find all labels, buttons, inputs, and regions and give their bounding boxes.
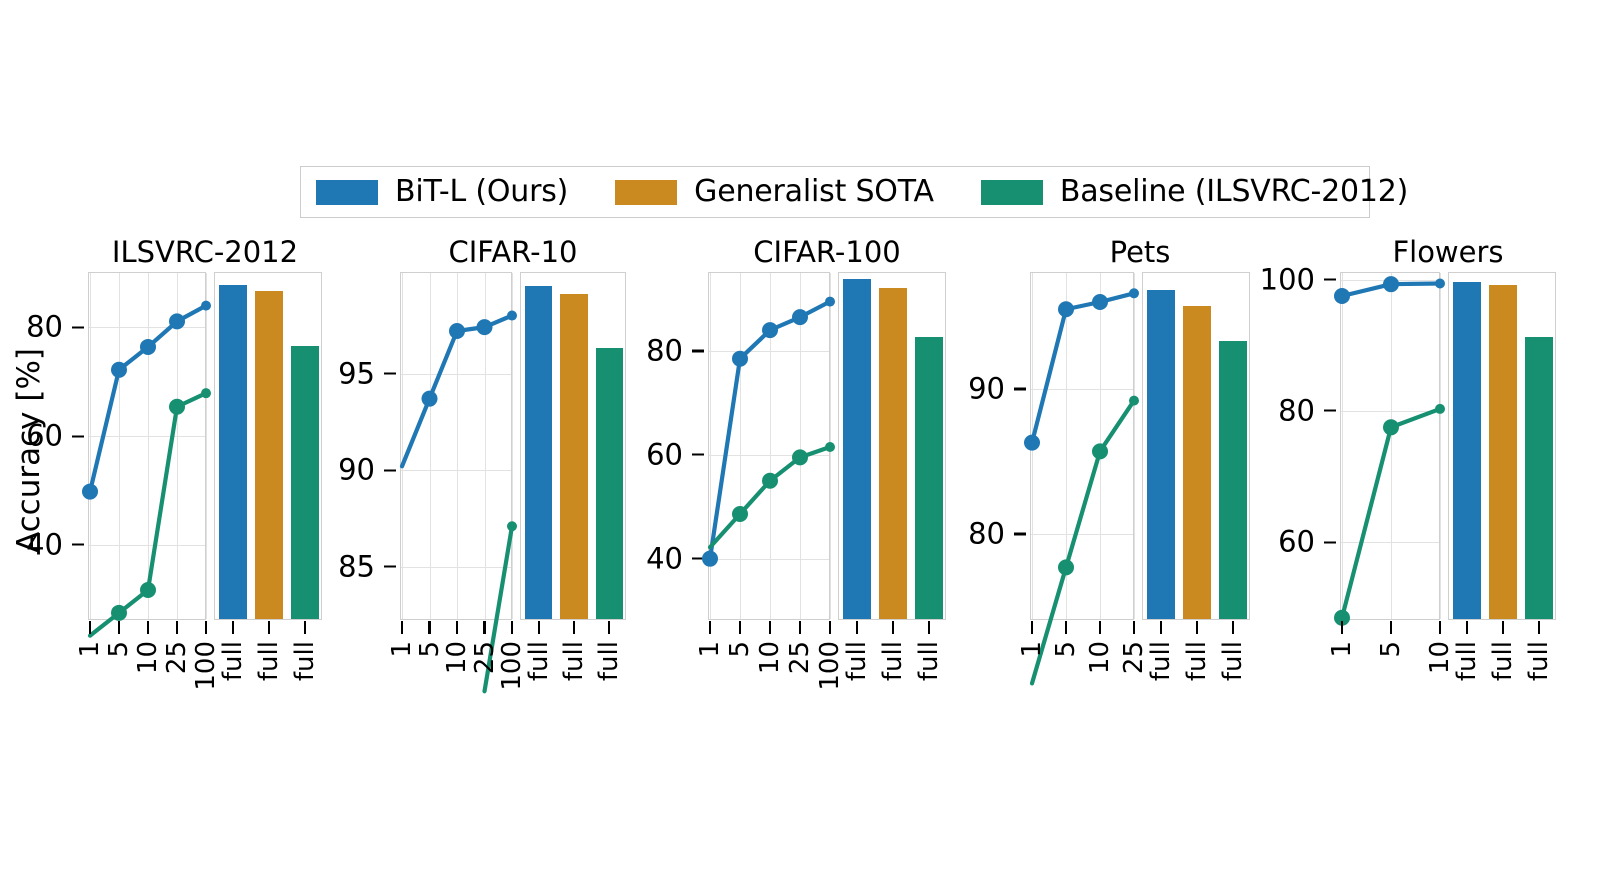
x-tick-label: full bbox=[596, 641, 622, 681]
x-tick-label: 1 bbox=[1329, 641, 1355, 658]
x-tick-label: full bbox=[844, 641, 870, 681]
series-svg bbox=[709, 273, 831, 621]
y-tick-mark bbox=[1324, 410, 1336, 412]
x-tick: full bbox=[561, 621, 587, 681]
axes-row: 60801001510fullfullfull bbox=[1340, 272, 1556, 620]
data-point-marker bbox=[507, 521, 517, 531]
legend-label-bit-l: BiT-L (Ours) bbox=[395, 177, 568, 207]
x-tick-mark bbox=[1538, 621, 1540, 634]
y-tick-label: 95 bbox=[338, 359, 375, 388]
x-tick: 25 bbox=[787, 621, 813, 674]
x-tick: 5 bbox=[106, 621, 132, 658]
x-tick-group-bars: fullfullfull bbox=[521, 621, 627, 701]
line-axes: 406080151025100 bbox=[708, 272, 830, 620]
x-tick: full bbox=[880, 621, 906, 681]
chart-panel-cifar-10: CIFAR-10859095151025100fullfullfull bbox=[400, 236, 626, 666]
bar-axes: fullfullfull bbox=[1142, 272, 1250, 620]
x-tick-label: 5 bbox=[106, 641, 132, 658]
data-point-marker bbox=[111, 605, 127, 621]
data-point-marker bbox=[422, 391, 438, 407]
y-tick-label: 100 bbox=[1260, 265, 1315, 294]
x-tick-mark bbox=[401, 621, 403, 634]
y-tick: 95 bbox=[338, 359, 401, 388]
x-tick-mark bbox=[1341, 621, 1343, 634]
bar-axes: fullfullfull bbox=[214, 272, 322, 620]
x-tick-mark bbox=[428, 621, 430, 634]
data-point-marker bbox=[140, 339, 156, 355]
x-tick-label: 5 bbox=[417, 641, 443, 658]
x-tick-mark bbox=[304, 621, 306, 634]
x-tick-mark bbox=[928, 621, 930, 634]
y-tick-mark bbox=[692, 454, 704, 456]
bar-generalist-sota bbox=[879, 288, 907, 619]
legend-entry-generalist-sota: Generalist SOTA bbox=[614, 177, 934, 207]
x-tick-label: 1 bbox=[389, 641, 415, 658]
series-line bbox=[90, 306, 206, 492]
y-tick-mark bbox=[692, 350, 704, 352]
x-tick-label: full bbox=[1148, 641, 1174, 681]
y-tick: 90 bbox=[338, 456, 401, 485]
x-tick-mark bbox=[1133, 621, 1135, 634]
x-tick-label: 1 bbox=[77, 641, 103, 658]
x-tick-mark bbox=[1502, 621, 1504, 634]
panel-title: Pets bbox=[1030, 236, 1250, 268]
x-tick: 5 bbox=[417, 621, 443, 658]
y-tick: 40 bbox=[646, 544, 709, 573]
x-tick: full bbox=[526, 621, 552, 681]
legend-swatch-generalist-sota bbox=[614, 179, 678, 206]
bar-baseline-ilsvrc-2012 bbox=[1219, 341, 1247, 619]
data-point-marker bbox=[169, 399, 185, 415]
x-tick-label: 5 bbox=[727, 641, 753, 658]
x-tick-mark bbox=[147, 621, 149, 634]
x-tick-mark bbox=[89, 621, 91, 634]
line-axes: 8090151025 bbox=[1030, 272, 1134, 620]
y-tick-label: 85 bbox=[338, 552, 375, 581]
data-point-marker bbox=[1129, 288, 1139, 298]
x-tick-label: 25 bbox=[787, 641, 813, 674]
x-tick-group: 151025 bbox=[1031, 621, 1135, 701]
x-tick-mark bbox=[1439, 621, 1441, 634]
x-tick: full bbox=[1454, 621, 1480, 681]
x-tick-label: 10 bbox=[444, 641, 470, 674]
panel-title: CIFAR-100 bbox=[708, 236, 946, 268]
x-tick-mark bbox=[1390, 621, 1392, 634]
axes-row: 406080151025100fullfullfull bbox=[708, 272, 946, 620]
series-svg bbox=[401, 273, 513, 621]
x-tick-label: full bbox=[880, 641, 906, 681]
axes-row: 8090151025fullfullfull bbox=[1030, 272, 1250, 620]
legend-label-baseline: Baseline (ILSVRC-2012) bbox=[1060, 177, 1408, 207]
x-tick-mark bbox=[538, 621, 540, 634]
bar-bit-l-ours bbox=[843, 279, 871, 619]
x-tick-mark bbox=[268, 621, 270, 634]
x-tick-group: 1510 bbox=[1341, 621, 1441, 701]
x-tick: full bbox=[916, 621, 942, 681]
x-tick: 10 bbox=[444, 621, 470, 674]
series-line bbox=[90, 393, 206, 636]
data-point-marker bbox=[732, 506, 748, 522]
chart-legend: BiT-L (Ours) Generalist SOTA Baseline (I… bbox=[300, 166, 1370, 218]
x-tick-mark bbox=[1031, 621, 1033, 634]
series-line bbox=[1342, 409, 1440, 618]
x-tick: 1 bbox=[1019, 621, 1045, 658]
data-point-marker bbox=[1383, 419, 1399, 435]
y-tick-mark bbox=[1014, 533, 1026, 535]
x-tick-mark bbox=[769, 621, 771, 634]
x-tick-group: 151025100 bbox=[89, 621, 207, 701]
y-tick-label: 80 bbox=[646, 336, 683, 365]
y-tick: 60 bbox=[646, 440, 709, 469]
x-tick-mark bbox=[799, 621, 801, 634]
y-tick-label: 40 bbox=[26, 530, 63, 559]
bar-axes: fullfullfull bbox=[1448, 272, 1556, 620]
x-tick-label: full bbox=[1454, 641, 1480, 681]
x-tick: 1 bbox=[77, 621, 103, 658]
y-tick: 90 bbox=[968, 375, 1031, 404]
data-point-marker bbox=[792, 449, 808, 465]
chart-panel-pets: Pets8090151025fullfullfull bbox=[1030, 236, 1250, 666]
bar-axes: fullfullfull bbox=[838, 272, 946, 620]
panel-title: CIFAR-10 bbox=[400, 236, 626, 268]
legend-entry-bit-l: BiT-L (Ours) bbox=[315, 177, 568, 207]
x-tick-label: full bbox=[916, 641, 942, 681]
legend-entry-baseline: Baseline (ILSVRC-2012) bbox=[980, 177, 1408, 207]
y-tick-label: 60 bbox=[646, 440, 683, 469]
series-line bbox=[710, 447, 830, 547]
x-tick: full bbox=[1526, 621, 1552, 681]
x-tick: 5 bbox=[1053, 621, 1079, 658]
x-tick-label: full bbox=[561, 641, 587, 681]
x-tick-mark bbox=[709, 621, 711, 634]
x-tick: 25 bbox=[164, 621, 190, 674]
x-tick: 5 bbox=[727, 621, 753, 658]
y-tick-label: 90 bbox=[968, 375, 1005, 404]
data-point-marker bbox=[1334, 288, 1350, 304]
bar-bit-l-ours bbox=[525, 286, 553, 619]
x-tick-mark bbox=[511, 621, 513, 634]
series-line bbox=[710, 302, 830, 559]
bar-generalist-sota bbox=[560, 294, 588, 619]
y-tick-mark bbox=[1014, 388, 1026, 390]
x-tick: full bbox=[256, 621, 282, 681]
data-point-marker bbox=[732, 351, 748, 367]
x-tick: full bbox=[1490, 621, 1516, 681]
x-tick: 10 bbox=[757, 621, 783, 674]
x-tick-group-bars: fullfullfull bbox=[215, 621, 323, 701]
x-tick: full bbox=[1148, 621, 1174, 681]
y-tick: 80 bbox=[646, 336, 709, 365]
x-tick: 10 bbox=[135, 621, 161, 674]
y-tick: 80 bbox=[968, 520, 1031, 549]
x-tick-mark bbox=[1232, 621, 1234, 634]
x-tick-mark bbox=[483, 621, 485, 634]
series-svg bbox=[1341, 273, 1441, 621]
x-tick-label: full bbox=[1526, 641, 1552, 681]
series-svg bbox=[89, 273, 207, 621]
y-tick: 40 bbox=[26, 530, 89, 559]
x-tick-mark bbox=[1065, 621, 1067, 634]
x-tick-mark bbox=[856, 621, 858, 634]
legend-swatch-bit-l bbox=[315, 179, 379, 206]
data-point-marker bbox=[169, 313, 185, 329]
axes-row: 859095151025100fullfullfull bbox=[400, 272, 626, 620]
x-tick-mark bbox=[1099, 621, 1101, 634]
x-tick-group-bars: fullfullfull bbox=[1449, 621, 1557, 701]
y-tick-mark bbox=[1324, 541, 1336, 543]
y-tick-label: 40 bbox=[646, 544, 683, 573]
data-point-marker bbox=[702, 551, 718, 567]
y-tick-label: 80 bbox=[968, 520, 1005, 549]
x-tick-mark bbox=[1466, 621, 1468, 634]
bar-baseline-ilsvrc-2012 bbox=[1525, 337, 1553, 619]
x-tick-mark bbox=[573, 621, 575, 634]
x-tick: full bbox=[596, 621, 622, 681]
bar-axes: fullfullfull bbox=[520, 272, 626, 620]
y-tick-mark bbox=[384, 469, 396, 471]
x-tick-label: 10 bbox=[1087, 641, 1113, 674]
x-tick: full bbox=[292, 621, 318, 681]
chart-panel-ilsvrc-2012: ILSVRC-2012406080151025100fullfullfull bbox=[88, 236, 322, 666]
data-point-marker bbox=[762, 322, 778, 338]
x-tick: full bbox=[1220, 621, 1246, 681]
data-point-marker bbox=[201, 301, 211, 311]
data-point-marker bbox=[1058, 301, 1074, 317]
legend-label-generalist-sota: Generalist SOTA bbox=[694, 177, 934, 207]
chart-panel-cifar-100: CIFAR-100406080151025100fullfullfull bbox=[708, 236, 946, 666]
data-point-marker bbox=[477, 319, 493, 335]
y-tick: 80 bbox=[1278, 396, 1341, 425]
bar-baseline-ilsvrc-2012 bbox=[915, 337, 943, 619]
x-tick-label: full bbox=[220, 641, 246, 681]
data-point-marker bbox=[507, 311, 517, 321]
bar-generalist-sota bbox=[1489, 285, 1517, 619]
x-tick-mark bbox=[118, 621, 120, 634]
x-tick: full bbox=[220, 621, 246, 681]
panel-title: Flowers bbox=[1340, 236, 1556, 268]
x-tick: 25 bbox=[472, 621, 498, 674]
y-tick-label: 90 bbox=[338, 456, 375, 485]
bar-bit-l-ours bbox=[1453, 282, 1481, 619]
y-tick-label: 80 bbox=[1278, 396, 1315, 425]
data-point-marker bbox=[762, 473, 778, 489]
line-axes: 60801001510 bbox=[1340, 272, 1440, 620]
x-tick-label: full bbox=[256, 641, 282, 681]
data-point-marker bbox=[111, 362, 127, 378]
y-tick-mark bbox=[72, 435, 84, 437]
data-point-marker bbox=[1058, 559, 1074, 575]
x-tick: 1 bbox=[389, 621, 415, 658]
y-tick-label: 80 bbox=[26, 313, 63, 342]
y-tick-label: 60 bbox=[26, 422, 63, 451]
x-tick-group: 151025100 bbox=[709, 621, 831, 701]
bar-generalist-sota bbox=[1183, 306, 1211, 619]
legend-swatch-baseline bbox=[980, 179, 1044, 206]
x-tick-label: 10 bbox=[757, 641, 783, 674]
x-tick-group: 151025100 bbox=[401, 621, 513, 701]
x-tick-label: 5 bbox=[1053, 641, 1079, 658]
data-point-marker bbox=[1024, 435, 1040, 451]
bar-baseline-ilsvrc-2012 bbox=[596, 348, 624, 619]
x-tick-mark bbox=[176, 621, 178, 634]
x-tick-mark bbox=[1160, 621, 1162, 634]
series-svg bbox=[1031, 273, 1135, 621]
bar-bit-l-ours bbox=[219, 285, 247, 619]
x-tick-label: 1 bbox=[697, 641, 723, 658]
x-tick: full bbox=[1184, 621, 1210, 681]
x-tick-label: 25 bbox=[164, 641, 190, 674]
y-tick-mark bbox=[384, 566, 396, 568]
x-tick-label: full bbox=[526, 641, 552, 681]
y-tick-mark bbox=[72, 544, 84, 546]
axes-row: 406080151025100fullfullfull bbox=[88, 272, 322, 620]
data-point-marker bbox=[1383, 276, 1399, 292]
x-tick: 10 bbox=[1087, 621, 1113, 674]
x-tick-label: 1 bbox=[1019, 641, 1045, 658]
x-tick-label: full bbox=[1220, 641, 1246, 681]
line-axes: 859095151025100 bbox=[400, 272, 512, 620]
data-point-marker bbox=[792, 309, 808, 325]
chart-panel-flowers: Flowers60801001510fullfullfull bbox=[1340, 236, 1556, 666]
x-tick-label: 25 bbox=[472, 641, 498, 674]
y-tick: 100 bbox=[1260, 265, 1341, 294]
x-tick-label: full bbox=[292, 641, 318, 681]
y-tick-label: 60 bbox=[1278, 528, 1315, 557]
bar-bit-l-ours bbox=[1147, 290, 1175, 619]
x-tick-mark bbox=[456, 621, 458, 634]
data-point-marker bbox=[449, 323, 465, 339]
data-point-marker bbox=[82, 484, 98, 500]
x-tick-mark bbox=[608, 621, 610, 634]
data-point-marker bbox=[1092, 294, 1108, 310]
data-point-marker bbox=[825, 297, 835, 307]
x-tick-group-bars: fullfullfull bbox=[1143, 621, 1251, 701]
x-tick-mark bbox=[205, 621, 207, 634]
x-tick: 5 bbox=[1378, 621, 1404, 658]
x-tick-label: 5 bbox=[1378, 641, 1404, 658]
x-tick: 1 bbox=[697, 621, 723, 658]
y-tick: 85 bbox=[338, 552, 401, 581]
x-tick-mark bbox=[892, 621, 894, 634]
x-tick-mark bbox=[829, 621, 831, 634]
x-tick-mark bbox=[1196, 621, 1198, 634]
data-point-marker bbox=[201, 388, 211, 398]
data-point-marker bbox=[825, 442, 835, 452]
x-tick-mark bbox=[739, 621, 741, 634]
y-tick-mark bbox=[1324, 278, 1336, 280]
line-axes: 406080151025100 bbox=[88, 272, 206, 620]
x-tick-label: full bbox=[1490, 641, 1516, 681]
panel-title: ILSVRC-2012 bbox=[88, 236, 322, 268]
y-tick: 80 bbox=[26, 313, 89, 342]
x-tick: full bbox=[844, 621, 870, 681]
bar-generalist-sota bbox=[255, 291, 283, 619]
data-point-marker bbox=[1435, 404, 1445, 414]
x-tick-label: full bbox=[1184, 641, 1210, 681]
y-tick: 60 bbox=[26, 422, 89, 451]
x-tick-group-bars: fullfullfull bbox=[839, 621, 947, 701]
data-point-marker bbox=[140, 582, 156, 598]
figure-root: BiT-L (Ours) Generalist SOTA Baseline (I… bbox=[0, 0, 1600, 891]
data-point-marker bbox=[1092, 443, 1108, 459]
data-point-marker bbox=[1435, 279, 1445, 289]
data-point-marker bbox=[1129, 396, 1139, 406]
x-tick-mark bbox=[232, 621, 234, 634]
y-tick-mark bbox=[384, 372, 396, 374]
x-tick-label: 10 bbox=[135, 641, 161, 674]
y-tick: 60 bbox=[1278, 528, 1341, 557]
x-tick: 1 bbox=[1329, 621, 1355, 658]
bar-baseline-ilsvrc-2012 bbox=[291, 346, 319, 620]
y-tick-mark bbox=[72, 326, 84, 328]
